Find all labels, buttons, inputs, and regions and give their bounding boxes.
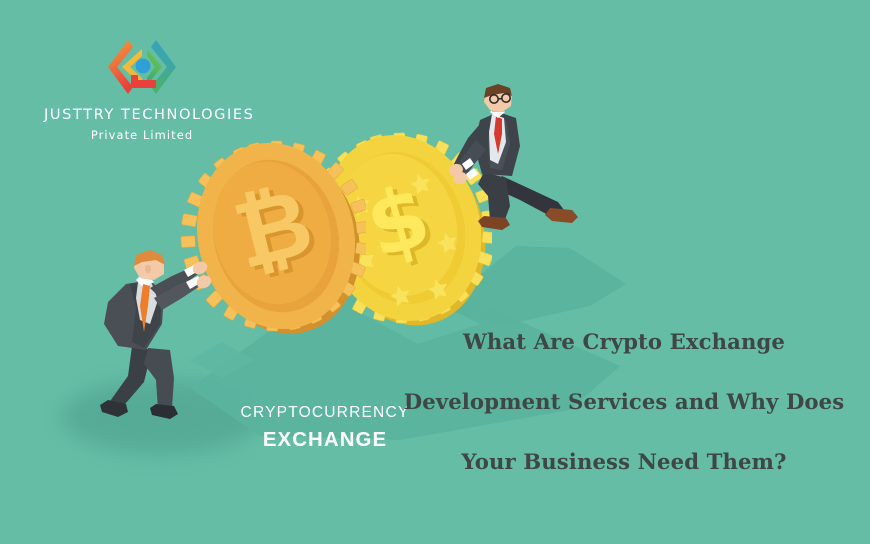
banner-image: JUSTTRY TECHNOLOGIES Private Limited (0, 0, 870, 544)
company-name: JUSTTRY TECHNOLOGIES (44, 106, 240, 123)
headline-line-3: Your Business Need Them? (386, 432, 862, 492)
justtry-hexagon-logo-icon (102, 34, 182, 100)
company-logo: JUSTTRY TECHNOLOGIES Private Limited (44, 34, 240, 142)
businessman-left (78, 250, 228, 440)
headline-line-1: What Are Crypto Exchange (386, 312, 862, 372)
headline-block: What Are Crypto Exchange Development Ser… (386, 312, 862, 492)
businessman-right (432, 84, 592, 244)
headline-line-2: Development Services and Why Does (386, 372, 862, 432)
